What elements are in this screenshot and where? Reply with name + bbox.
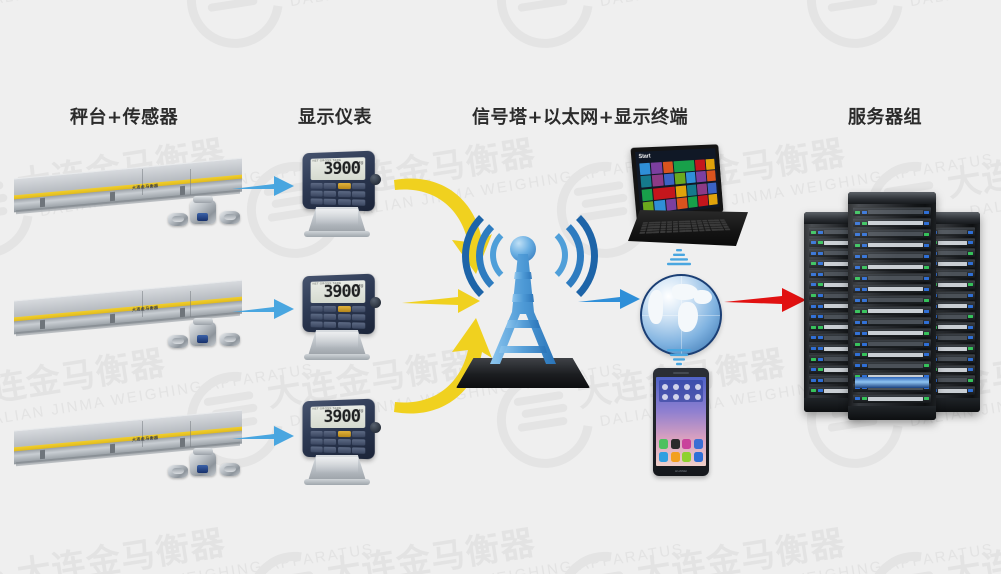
windows-tile: [674, 160, 695, 172]
windows-tile: [705, 159, 715, 170]
windows-tile: [666, 199, 677, 211]
phone-wifi-signal: [666, 348, 692, 370]
server-rack-center: [848, 192, 936, 420]
phone-speaker: [673, 372, 689, 374]
keyboard-key: [653, 231, 659, 233]
windows-tile: [663, 161, 674, 173]
load-cell-b-1: [220, 211, 240, 224]
windows-start-label: Start: [638, 153, 650, 160]
phone-toggle-icon[interactable]: [684, 394, 690, 400]
phone-app-icon[interactable]: [671, 439, 680, 449]
signal-tower: [438, 210, 608, 395]
indicator-reading: 3900: [324, 281, 360, 302]
weight-indicator-3[interactable]: NET GROSS TARE 3900 kg: [294, 400, 380, 490]
load-cell-main-1: [190, 200, 216, 224]
phone-toggle-icon[interactable]: [662, 394, 668, 400]
windows-tile: [686, 172, 696, 184]
phone-toggle-icon[interactable]: [662, 384, 668, 390]
indicator-unit: kg: [359, 282, 363, 287]
windows-tile: [664, 174, 675, 186]
indicator-reading: 3900: [324, 406, 360, 427]
windows-tile: [688, 196, 698, 208]
indicator-keypad[interactable]: [311, 431, 366, 454]
internet-globe: [640, 274, 722, 356]
load-cell-a-1: [168, 213, 188, 226]
windows-tile: [676, 185, 686, 197]
windows-tile: [640, 176, 651, 188]
windows-tile: [687, 184, 697, 196]
windows-tile: [652, 175, 663, 187]
keyboard-key: [639, 232, 645, 234]
phone-toggle-icon[interactable]: [695, 384, 701, 390]
column-title-network: 信号塔+以太网+显示终端: [472, 103, 688, 129]
load-cell-main-2: [190, 322, 216, 346]
column-title-scale: 秤台+传感器: [70, 103, 178, 129]
indicator-unit: kg: [359, 407, 363, 412]
phone-toggle-icon[interactable]: [673, 394, 679, 400]
keyboard-key: [646, 231, 652, 233]
windows-tile: [708, 194, 717, 205]
keyboard-key: [679, 230, 685, 232]
phone-toggle-icon[interactable]: [695, 394, 701, 400]
indicator-base: [304, 231, 370, 237]
phone-app-grid[interactable]: [659, 439, 703, 462]
keyboard-key: [686, 230, 692, 232]
keyboard-key: [711, 229, 717, 231]
windows-tile: [697, 183, 707, 195]
diagram-canvas: 大连金马衡器DALIAN JINMA WEIGHING APPARATUS大连金…: [0, 0, 1001, 574]
windows-tile: [706, 171, 716, 182]
phone-brand-label: HUAWEI: [675, 469, 687, 473]
laptop-screen: Start: [635, 148, 720, 217]
diagram-content: 秤台+传感器 显示仪表 信号塔+以太网+显示终端 服务器组 大连金马衡器 大连金…: [0, 0, 1001, 574]
phone-app-icon[interactable]: [682, 439, 691, 449]
weight-indicator-1[interactable]: NET GROSS TARE 3900 kg: [294, 152, 380, 242]
keyboard-key: [666, 230, 672, 232]
keyboard-key: [699, 229, 705, 231]
indicator-stand: [308, 207, 366, 233]
arrow-scale-to-indicator-3: [232, 422, 296, 450]
windows-tile: [653, 186, 675, 199]
tower-mast: [482, 254, 564, 366]
server-group: [804, 192, 980, 424]
windows-tile: [675, 173, 685, 185]
keyboard-key: [692, 229, 698, 231]
keyboard-key: [660, 231, 666, 233]
keyboard-key: [724, 228, 730, 230]
mobile-terminal[interactable]: HUAWEI: [653, 368, 709, 476]
indicator-knob: [370, 174, 381, 185]
windows-tile: [695, 159, 705, 170]
laptop-terminal[interactable]: Start: [628, 146, 750, 256]
load-cell-a-3: [168, 465, 188, 478]
indicator-lcd: NET GROSS TARE 3900 kg: [311, 157, 366, 180]
laptop-wifi-signal: [666, 248, 692, 270]
arrow-globe-to-servers: [724, 285, 808, 313]
phone-app-icon[interactable]: [694, 439, 703, 449]
indicator-keypad[interactable]: [311, 183, 366, 206]
load-cell-b-2: [220, 333, 240, 346]
windows-tile: [696, 171, 706, 182]
indicator-housing: NET GROSS TARE 3900 kg: [303, 151, 375, 212]
indicator-unit: kg: [359, 159, 363, 164]
load-cell-main-3: [190, 452, 216, 476]
globe-landmass-africa: [678, 302, 698, 332]
indicator-keypad[interactable]: [311, 306, 366, 329]
windows-tile: [698, 195, 708, 207]
phone-toggle-widget[interactable]: [659, 380, 703, 402]
phone-app-icon[interactable]: [659, 452, 668, 462]
load-cell-a-2: [168, 335, 188, 348]
windows-tile: [707, 182, 716, 193]
column-title-indicator: 显示仪表: [298, 103, 372, 129]
phone-app-icon[interactable]: [682, 452, 691, 462]
load-cell-b-3: [220, 463, 240, 476]
keyboard-key: [705, 229, 711, 231]
windows-tile: [651, 162, 662, 174]
arrow-scale-to-indicator-2: [232, 295, 296, 323]
indicator-reading: 3900: [324, 158, 360, 179]
phone-app-icon[interactable]: [694, 452, 703, 462]
globe-landmass-americas: [648, 290, 663, 324]
phone-toggle-icon[interactable]: [684, 384, 690, 390]
windows-tile: [639, 163, 650, 175]
column-title-server: 服务器组: [848, 103, 922, 129]
weight-indicator-2[interactable]: NET GROSS TARE 3900 kg: [294, 275, 380, 365]
windows-tile-grid: [639, 159, 718, 215]
phone-app-icon[interactable]: [659, 439, 668, 449]
globe-landmass-asia: [694, 290, 712, 304]
phone-screen: [656, 377, 706, 466]
keyboard-key: [718, 228, 724, 230]
windows-tile: [642, 189, 653, 202]
keyboard-key: [673, 230, 679, 232]
phone-toggle-icon[interactable]: [673, 384, 679, 390]
windows-tile: [677, 197, 687, 209]
phone-app-icon[interactable]: [671, 452, 680, 462]
arrow-scale-to-indicator-1: [232, 172, 296, 200]
